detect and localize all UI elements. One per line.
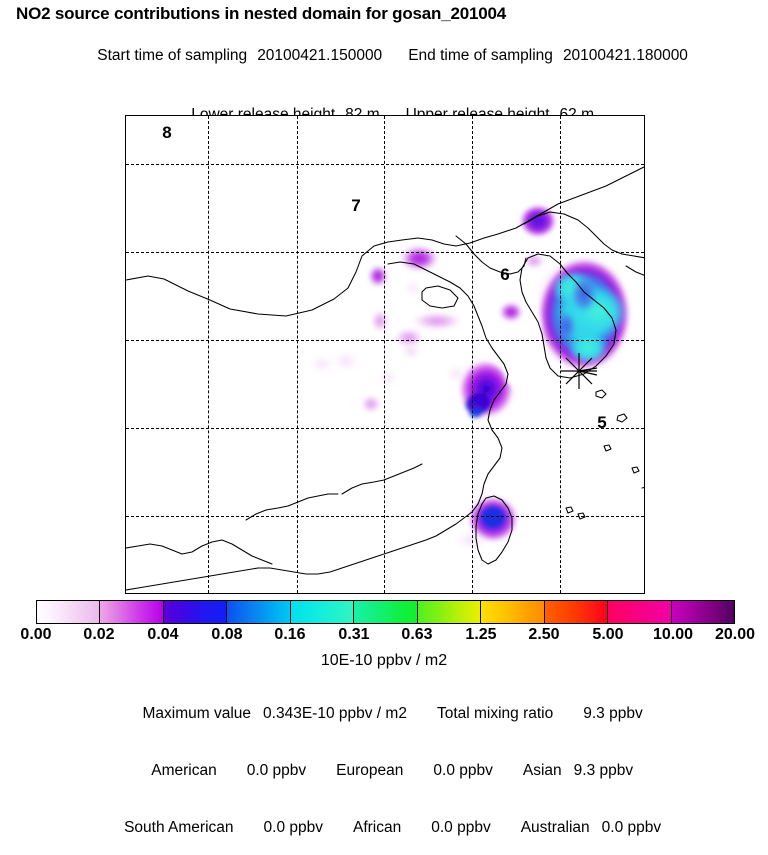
colorbar-tick: 0.00 bbox=[20, 626, 51, 644]
total-mixing-ratio-label: Total mixing ratio bbox=[437, 705, 553, 722]
colorbar-band bbox=[37, 601, 100, 623]
colorbar-axis-label: 10E-10 ppbv / m2 bbox=[0, 652, 768, 670]
colorbar-band bbox=[164, 601, 227, 623]
region-asian-label: Asian bbox=[523, 762, 562, 779]
footer-summary-line: Maximum value0.343E-10 ppbv / m2Total mi… bbox=[0, 687, 768, 741]
region-african-label: African bbox=[353, 819, 401, 836]
statistics-footer: Maximum value0.343E-10 ppbv / m2Total mi… bbox=[0, 684, 768, 855]
start-time-label: Start time of sampling bbox=[97, 47, 247, 64]
region-label-5: 5 bbox=[597, 413, 606, 433]
colorbar-tick: 1.25 bbox=[465, 626, 496, 644]
colorbar-tick: 0.02 bbox=[83, 626, 114, 644]
colorbar-tick-labels: 0.00 0.02 0.04 0.08 0.16 0.31 0.63 1.25 … bbox=[0, 626, 768, 648]
region-south-american-label: South American bbox=[124, 819, 233, 836]
colorbar-band bbox=[545, 601, 608, 623]
colorbar-band bbox=[418, 601, 481, 623]
end-time-value: 20100421.180000 bbox=[563, 47, 688, 64]
region-label-6: 6 bbox=[500, 265, 509, 285]
colorbar-tick: 5.00 bbox=[592, 626, 623, 644]
region-australian-label: Australian bbox=[521, 819, 590, 836]
region-australian-value: 0.0 ppbv bbox=[602, 819, 661, 836]
region-american-label: American bbox=[151, 762, 216, 779]
colorbar-tick: 20.00 bbox=[715, 626, 755, 644]
colorbar-tick: 0.16 bbox=[274, 626, 305, 644]
colorbar-band bbox=[291, 601, 354, 623]
total-mixing-ratio-value: 9.3 ppbv bbox=[583, 705, 642, 722]
footer-region-row: South American0.0 ppbvAfrican0.0 ppbvAus… bbox=[0, 801, 768, 855]
colorbar-band bbox=[227, 601, 290, 623]
colorbar-band bbox=[354, 601, 417, 623]
colorbar-band bbox=[481, 601, 544, 623]
end-time-label: End time of sampling bbox=[408, 47, 553, 64]
footer-region-row: American0.0 ppbvEuropean0.0 ppbvAsian9.3… bbox=[0, 744, 768, 798]
map-panel[interactable]: 8 7 6 5 bbox=[125, 115, 645, 594]
start-time-value: 20100421.150000 bbox=[257, 47, 382, 64]
region-asian-value: 9.3 ppbv bbox=[574, 762, 633, 779]
colorbar-tick: 0.63 bbox=[401, 626, 432, 644]
colorbar-band bbox=[608, 601, 671, 623]
maximum-value: 0.343E-10 ppbv / m2 bbox=[263, 705, 407, 722]
colorbar-tick: 2.50 bbox=[528, 626, 559, 644]
region-american-value: 0.0 ppbv bbox=[247, 762, 306, 779]
colorbar[interactable] bbox=[36, 600, 735, 624]
sampling-time-line: Start time of sampling20100421.150000End… bbox=[0, 29, 768, 83]
colorbar-tick: 0.08 bbox=[211, 626, 242, 644]
colorbar-tick: 0.04 bbox=[147, 626, 178, 644]
region-african-value: 0.0 ppbv bbox=[431, 819, 490, 836]
release-site-star-icon bbox=[559, 351, 599, 391]
region-south-american-value: 0.0 ppbv bbox=[264, 819, 323, 836]
colorbar-tick: 10.00 bbox=[653, 626, 693, 644]
region-european-label: European bbox=[336, 762, 403, 779]
colorbar-tick: 0.31 bbox=[338, 626, 369, 644]
maximum-value-label: Maximum value bbox=[143, 705, 252, 722]
page-title: NO2 source contributions in nested domai… bbox=[0, 4, 768, 24]
region-label-8: 8 bbox=[162, 123, 171, 143]
colorbar-band bbox=[100, 601, 163, 623]
colorbar-band bbox=[672, 601, 734, 623]
map-inner: 8 7 6 5 bbox=[126, 116, 644, 593]
region-label-7: 7 bbox=[351, 196, 360, 216]
region-european-value: 0.0 ppbv bbox=[433, 762, 492, 779]
